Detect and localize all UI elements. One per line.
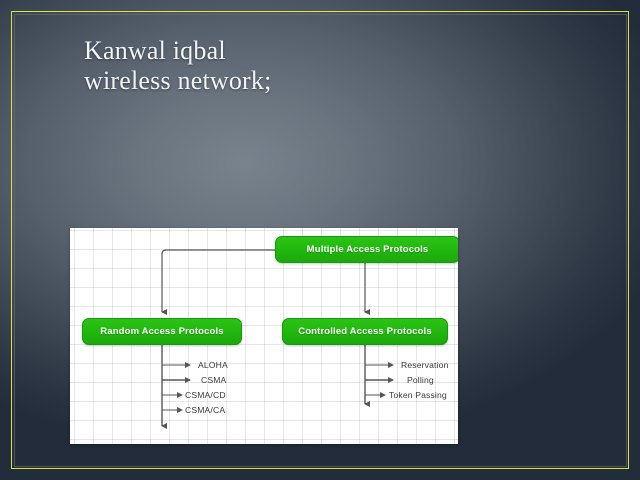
node-controlled-access-protocols[interactable]: Controlled Access Protocols — [282, 318, 448, 345]
leaf-label-csma-ca: CSMA/CA — [185, 405, 225, 415]
leaf-label-csma-cd: CSMA/CD — [185, 390, 226, 400]
slide-canvas: Kanwal iqbal wireless network; — [0, 0, 640, 480]
diagram-content: Multiple Access Protocols Random Access … — [70, 228, 458, 444]
title-line-2: wireless network; — [84, 66, 524, 96]
leaf-label-aloha: ALOHA — [198, 360, 228, 370]
leaf-label-csma: CSMA — [201, 375, 226, 385]
title-line-1: Kanwal iqbal — [84, 36, 524, 66]
node-left-label: Random Access Protocols — [100, 326, 223, 337]
page-title: Kanwal iqbal wireless network; — [84, 36, 524, 96]
leaf-label-polling: Polling — [407, 375, 434, 385]
node-root-label: Multiple Access Protocols — [307, 244, 429, 255]
diagram-panel: Multiple Access Protocols Random Access … — [70, 228, 458, 444]
node-random-access-protocols[interactable]: Random Access Protocols — [82, 318, 242, 345]
node-multiple-access-protocols[interactable]: Multiple Access Protocols — [275, 236, 458, 263]
leaf-label-reservation: Reservation — [401, 360, 449, 370]
leaf-label-token-passing: Token Passing — [389, 390, 447, 400]
connector-root-to-left — [162, 250, 275, 312]
node-right-label: Controlled Access Protocols — [298, 326, 432, 337]
